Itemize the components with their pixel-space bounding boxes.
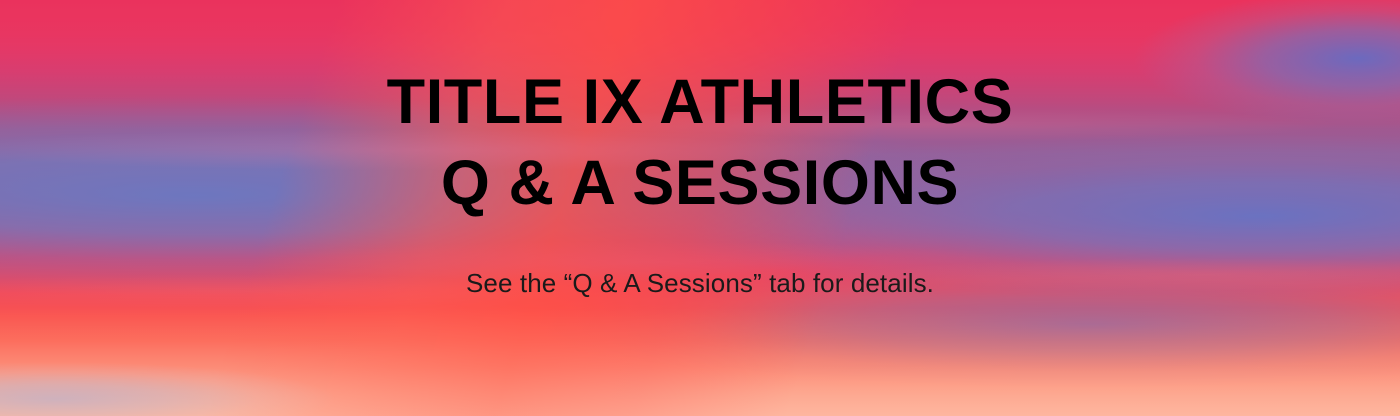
hero-banner: TITLE IX ATHLETICS Q & A SESSIONS See th… xyxy=(0,0,1400,416)
banner-subtitle: See the “Q & A Sessions” tab for details… xyxy=(466,268,934,298)
banner-headline-line-1: TITLE IX ATHLETICS xyxy=(387,62,1014,143)
banner-content: TITLE IX ATHLETICS Q & A SESSIONS See th… xyxy=(0,0,1400,416)
banner-headline-line-2: Q & A SESSIONS xyxy=(441,143,959,224)
